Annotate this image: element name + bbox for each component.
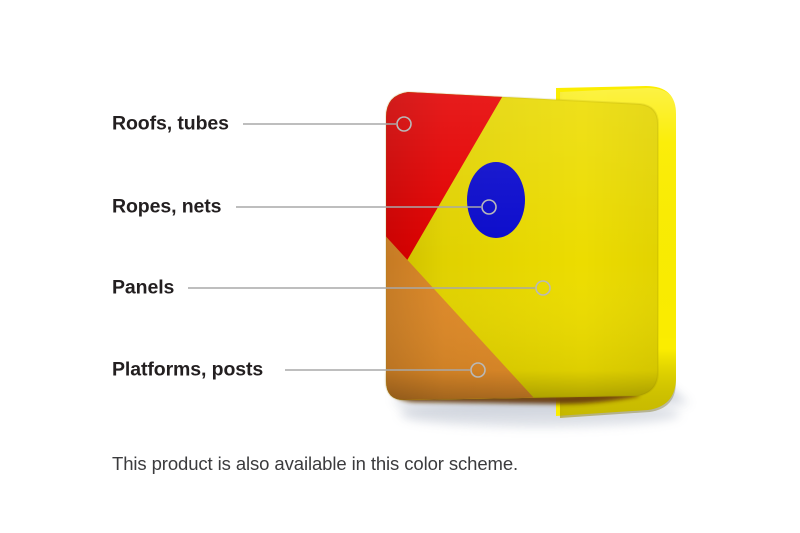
callout-label-panels: Panels [112,277,174,300]
callout-label-roofs-tubes: Roofs, tubes [112,113,229,136]
illustration-canvas: Roofs, tubes Ropes, nets Panels Platform… [0,0,800,533]
callout-label-platforms-posts: Platforms, posts [112,359,263,382]
cube-front-face [380,80,670,410]
callout-label-ropes-nets: Ropes, nets [112,196,221,219]
caption-text: This product is also available in this c… [112,453,518,475]
